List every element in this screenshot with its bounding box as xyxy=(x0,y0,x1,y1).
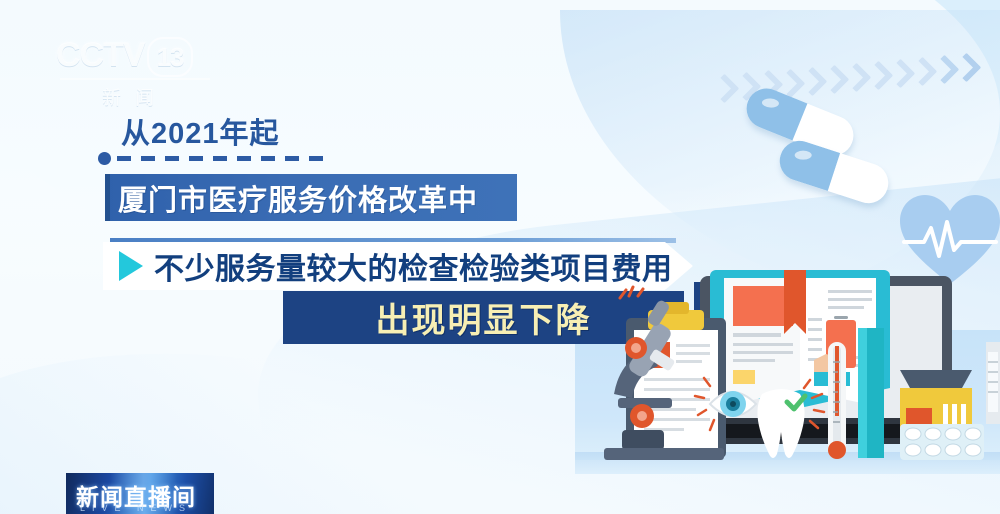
headline-band-2-cap xyxy=(105,174,110,221)
dashed-divider xyxy=(98,152,328,164)
cctv-logo-text: CCTV xyxy=(56,36,145,74)
chevron-arrow-icon xyxy=(952,53,982,83)
pill-blister-icon xyxy=(900,424,984,460)
headline-line-4: 出现明显下降 xyxy=(376,293,592,342)
headline-line-3: 不少服务量较大的检查检验类项目费用 xyxy=(154,244,673,288)
medical-illustration xyxy=(600,258,1000,480)
pencil-icon xyxy=(858,328,884,458)
syringe-icon xyxy=(986,342,1000,424)
divider-dot xyxy=(98,152,111,165)
broadcast-frame: CCTV13 新闻 从2021年起 厦门市医疗服务价格改革中 xyxy=(0,0,1000,514)
headline-line-1: 从2021年起 xyxy=(121,110,280,152)
cctv-logo-mark: CCTV13 xyxy=(56,37,222,77)
cctv-logo-rule xyxy=(60,78,210,80)
play-triangle-icon xyxy=(119,251,143,281)
live-program-badge: 新闻直播间 LIVE NEWS xyxy=(66,473,214,514)
cctv13-logo: CCTV13 新闻 xyxy=(56,37,222,103)
cctv-channel-number: 13 xyxy=(147,37,194,77)
divider-dashes xyxy=(117,156,328,161)
cctv-logo-subtitle: 新闻 xyxy=(60,83,210,110)
headline-line-2: 厦门市医疗服务价格改革中 xyxy=(118,177,478,219)
badge-subtitle: LIVE NEWS xyxy=(80,503,192,513)
thermometer-icon xyxy=(828,342,846,459)
headline-band-2: 厦门市医疗服务价格改革中 xyxy=(105,174,517,221)
